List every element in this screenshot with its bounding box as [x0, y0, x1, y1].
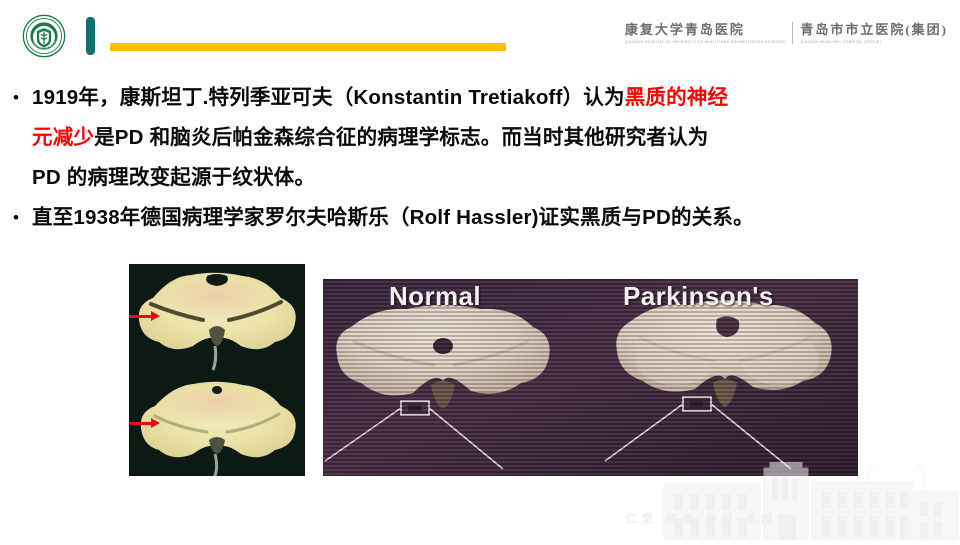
- hospital-group-cn: 青岛市市立医院(集团): [800, 23, 948, 37]
- normal-vs-parkinsons-photo: Normal Parkinson's: [323, 279, 858, 476]
- hospital-name-block: 康复大学青岛医院 QINGDAO HOSPITAL OF UNIVERSITY …: [625, 23, 785, 43]
- hospital-group-en: QINGDAO MUNICIPAL HOSPITAL (GROUP): [800, 39, 948, 44]
- figure-label-normal: Normal: [389, 281, 481, 312]
- bullet-text: 1919年，康斯坦丁.特列季亚可夫（Konstantin Tretiakoff）…: [32, 78, 960, 198]
- logo-divider: [792, 22, 793, 44]
- slide-body-text: • 1919年，康斯坦丁.特列季亚可夫（Konstantin Tretiakof…: [0, 78, 960, 238]
- figure-label-parkinsons: Parkinson's: [623, 281, 774, 312]
- university-emblem-icon: UNIVERSITY OF HEALTH AND REHABILITATION: [22, 14, 66, 58]
- hospital-name-cn: 康复大学青岛医院: [625, 23, 785, 37]
- text-line: PD 的病理改变起源于纹状体。: [32, 158, 960, 198]
- text-run: 直至1938年德国病理学家罗尔夫哈斯乐（Rolf Hassler)证实黑质与PD…: [32, 206, 754, 229]
- text-line: 元减少是PD 和脑炎后帕金森综合征的病理学标志。而当时其他研究者认为: [32, 118, 960, 158]
- text-line: 1919年，康斯坦丁.特列季亚可夫（Konstantin Tretiakoff）…: [32, 78, 960, 118]
- bullet-item: • 直至1938年德国病理学家罗尔夫哈斯乐（Rolf Hassler)证实黑质与…: [0, 198, 960, 238]
- accent-bar-teal: [86, 17, 95, 55]
- text-run: PD 的病理改变起源于纹状体。: [32, 166, 315, 189]
- hospital-name-en: QINGDAO HOSPITAL OF UNIVERSITY OF HEALTH…: [625, 39, 785, 44]
- bullet-marker: •: [0, 78, 32, 118]
- accent-bar-gold: [110, 43, 506, 51]
- text-line: 直至1938年德国病理学家罗尔夫哈斯乐（Rolf Hassler)证实黑质与PD…: [32, 198, 960, 238]
- hospital-group-block: 青岛市市立医院(集团) QINGDAO MUNICIPAL HOSPITAL (…: [800, 23, 948, 43]
- hospital-motto: 仁爱 和谐 奉献 卓越: [626, 510, 777, 526]
- text-run: 1919年，康斯坦丁.特列季亚可夫（Konstantin Tretiakoff）…: [32, 86, 625, 109]
- hospital-logo: 康复大学青岛医院 QINGDAO HOSPITAL OF UNIVERSITY …: [625, 18, 948, 48]
- bullet-text: 直至1938年德国病理学家罗尔夫哈斯乐（Rolf Hassler)证实黑质与PD…: [32, 198, 960, 238]
- building-watermark-icon: [660, 462, 960, 540]
- bullet-item: • 1919年，康斯坦丁.特列季亚可夫（Konstantin Tretiakof…: [0, 78, 960, 198]
- slide-canvas: UNIVERSITY OF HEALTH AND REHABILITATION …: [0, 0, 960, 540]
- text-run-highlight: 黑质的神经: [625, 86, 729, 109]
- text-run: 是PD 和脑炎后帕金森综合征的病理学标志。而当时其他研究者认为: [94, 126, 708, 149]
- text-run-highlight: 元减少: [32, 126, 94, 149]
- bullet-marker: •: [0, 198, 32, 238]
- midbrain-sections-photo: [129, 264, 305, 476]
